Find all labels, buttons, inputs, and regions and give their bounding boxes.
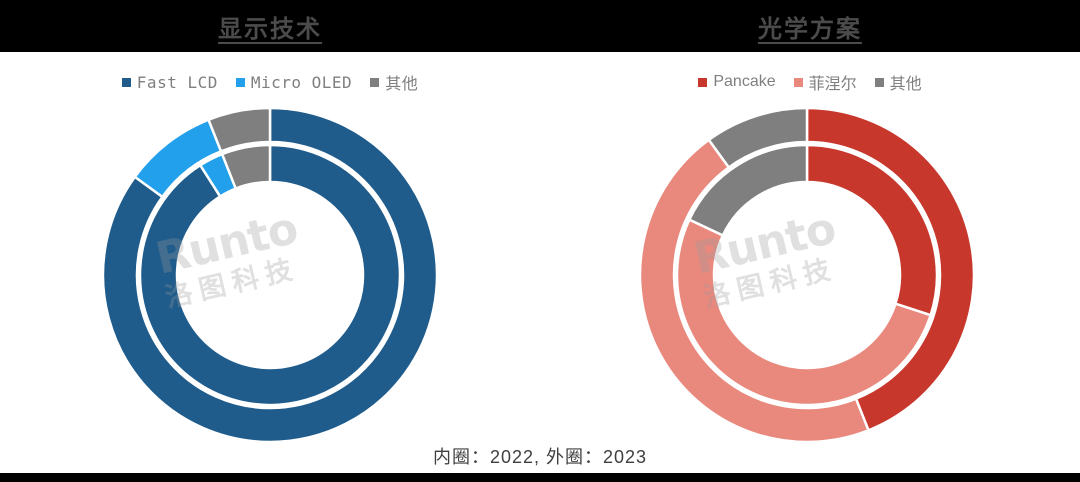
legend-item-label: 菲涅尔 xyxy=(809,70,857,94)
legend-swatch-icon xyxy=(875,78,884,87)
donut-chart-display-technology xyxy=(100,105,440,445)
legend-item-other[interactable]: 其他 xyxy=(875,70,922,94)
page-title-display-technology: 显示技术 xyxy=(0,0,540,52)
legend-item-fresnel[interactable]: 菲涅尔 xyxy=(794,70,857,94)
legend-item-pancake[interactable]: Pancake xyxy=(698,73,775,91)
chart-caption: 内圈：2022, 外圈：2023 xyxy=(0,443,1080,469)
donut-slice[interactable] xyxy=(140,145,400,405)
legend-item-micro-oled[interactable]: Micro OLED xyxy=(236,73,352,92)
donut-chart-optical-solution xyxy=(637,105,977,445)
legend-swatch-icon xyxy=(794,78,803,87)
legend-item-other[interactable]: 其他 xyxy=(370,70,418,94)
legend-swatch-icon xyxy=(236,78,245,87)
legend-swatch-icon xyxy=(698,78,707,87)
legend-display-technology: Fast LCD Micro OLED 其他 xyxy=(0,70,540,94)
page-title-optical-solution: 光学方案 xyxy=(540,0,1080,52)
bottom-black-band xyxy=(0,473,1080,482)
legend-item-fast-lcd[interactable]: Fast LCD xyxy=(122,73,218,92)
legend-item-label: 其他 xyxy=(385,70,418,94)
donut-chart-svg xyxy=(100,105,440,445)
legend-optical-solution: Pancake 菲涅尔 其他 xyxy=(540,70,1080,94)
legend-swatch-icon xyxy=(122,78,131,87)
legend-item-label: Micro OLED xyxy=(251,73,352,92)
donut-chart-svg xyxy=(637,105,977,445)
legend-item-label: Pancake xyxy=(713,73,775,91)
legend-swatch-icon xyxy=(370,78,379,87)
legend-item-label: 其他 xyxy=(890,70,922,94)
legend-item-label: Fast LCD xyxy=(137,73,218,92)
